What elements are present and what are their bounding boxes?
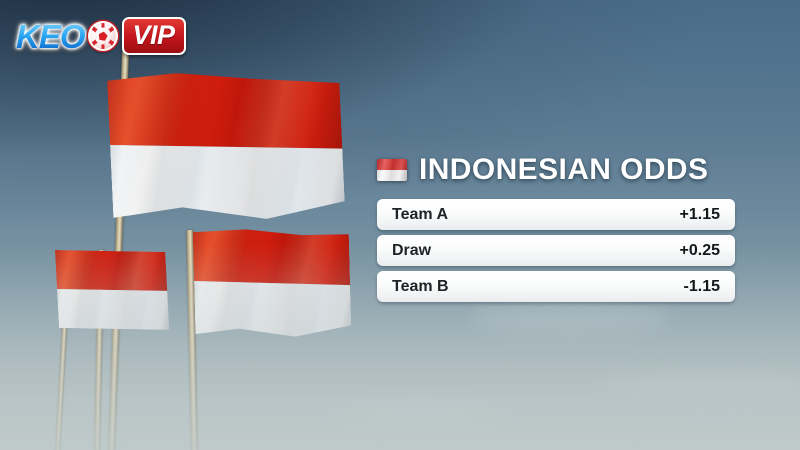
odds-value: -1.15 [684,279,720,295]
flag-medium-right [193,228,352,338]
flag-small-left [55,250,169,330]
odds-row-draw[interactable]: Draw +0.25 [377,235,735,266]
odds-value: +0.25 [680,243,720,259]
soccer-ball-icon [88,21,118,51]
brand-logo[interactable]: KEO VIP [16,16,186,56]
brand-logo-keo: KEO [16,20,87,53]
odds-label: Team A [392,207,448,223]
page-title: INDONESIAN ODDS [419,155,708,185]
odds-label: Draw [392,243,431,259]
odds-label: Team B [392,279,449,295]
panel-title: INDONESIAN ODDS [377,155,735,185]
screenshot-canvas: KEO VIP INDONESIAN ODDS Team A +1.15 Dra… [0,0,800,450]
brand-logo-keo-text: KEO [16,20,85,53]
brand-logo-vip: VIP [122,17,186,55]
indonesia-flag-icon [377,159,407,181]
odds-row-team-a[interactable]: Team A +1.15 [377,199,735,230]
odds-value: +1.15 [680,207,720,223]
odds-list: Team A +1.15 Draw +0.25 Team B -1.15 [377,199,735,302]
odds-panel: INDONESIAN ODDS Team A +1.15 Draw +0.25 … [377,155,735,302]
flag-large-main [107,72,346,222]
cloud-wisp [470,300,670,334]
cloud-wisp [330,400,510,422]
odds-row-team-b[interactable]: Team B -1.15 [377,271,735,302]
